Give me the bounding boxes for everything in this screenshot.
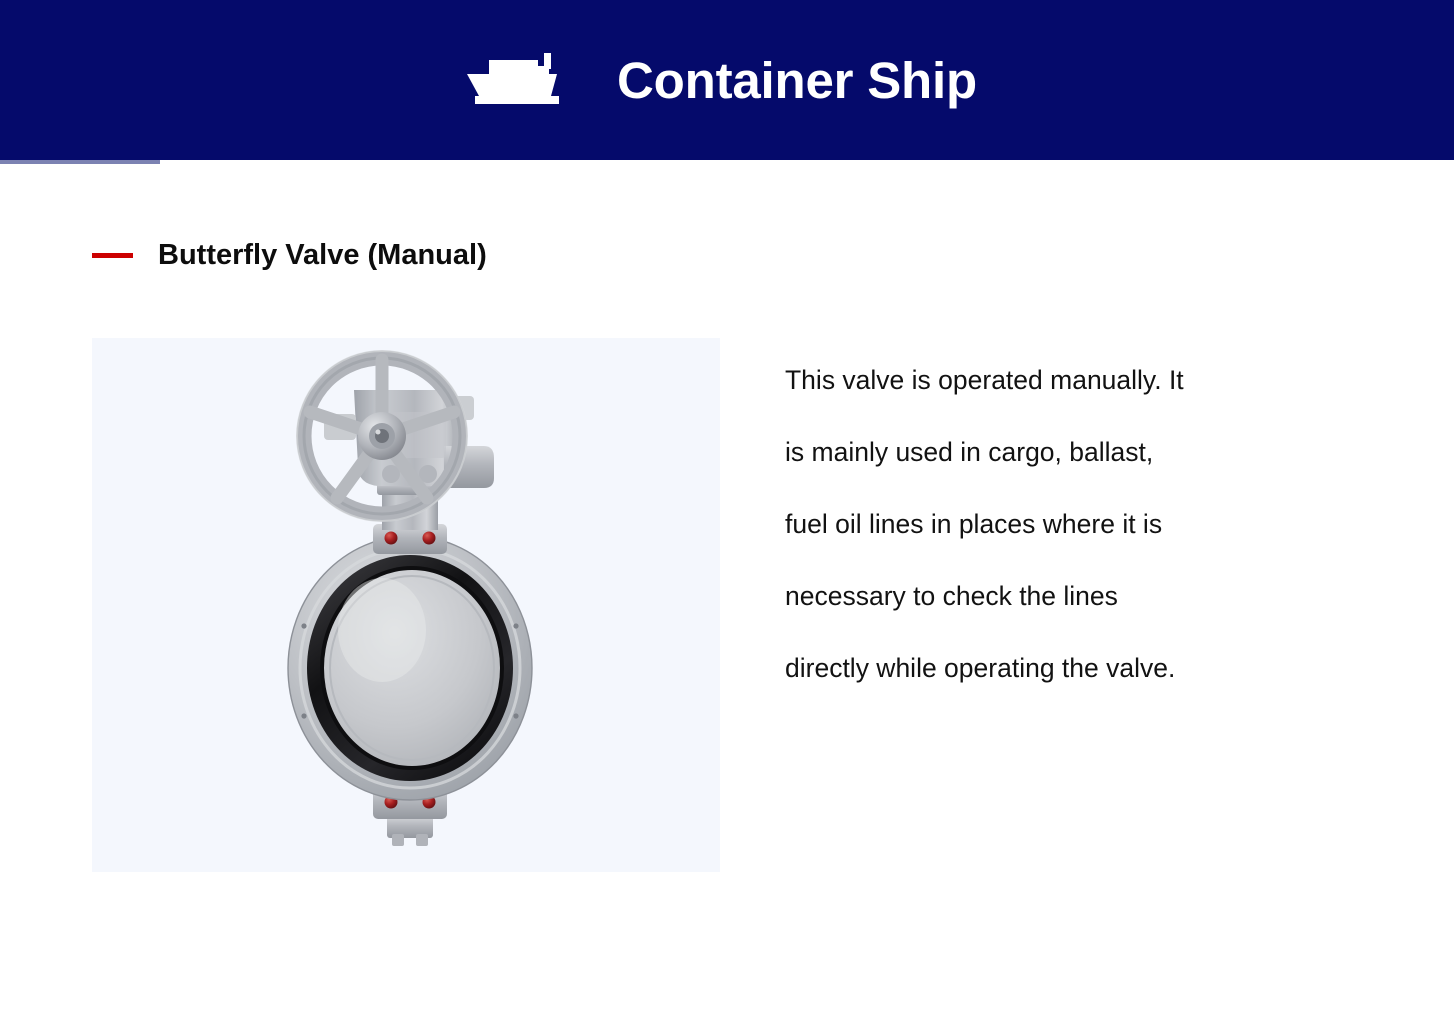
page-title: Butterfly Valve (Manual): [158, 240, 487, 272]
header-bar: Container Ship: [0, 0, 1454, 160]
valve-image-panel: [92, 338, 720, 872]
heading-dash-accent: [92, 253, 133, 258]
container-ship-icon: [465, 49, 573, 111]
header-accent-underline: [0, 160, 160, 164]
header-title: Container Ship: [617, 55, 977, 106]
section-heading: Butterfly Valve (Manual): [92, 240, 487, 272]
butterfly-valve-image: [92, 338, 720, 872]
valve-description: This valve is operated manually. It is m…: [785, 344, 1365, 704]
description-line: fuel oil lines in places where it is: [785, 488, 1365, 560]
header-content: Container Ship: [465, 49, 977, 111]
description-line: necessary to check the lines: [785, 560, 1365, 632]
description-line: This valve is operated manually. It: [785, 344, 1365, 416]
description-line: is mainly used in cargo, ballast,: [785, 416, 1365, 488]
description-line: directly while operating the valve.: [785, 632, 1365, 704]
